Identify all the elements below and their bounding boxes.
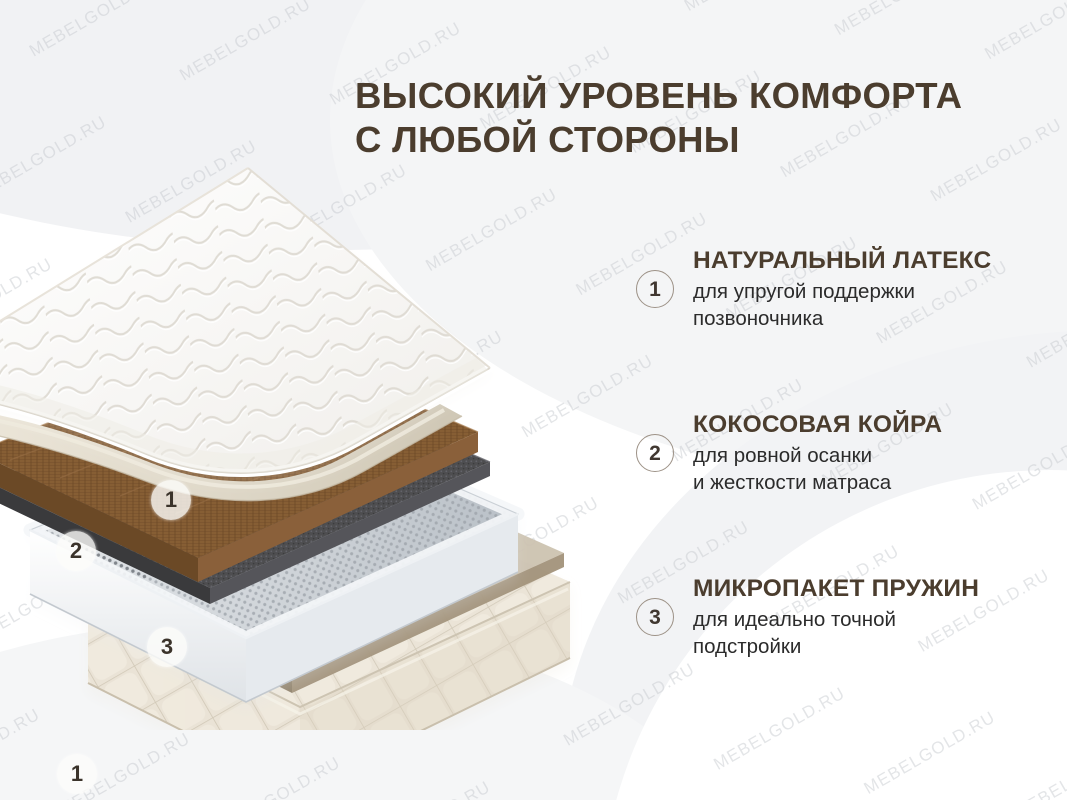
watermark-text: MEBELGOLD.RU: [512, 0, 764, 25]
mattress-layers-illustration: 1 2 3 1: [0, 130, 590, 730]
legend-badge-2: 2: [636, 434, 674, 472]
infographic-canvas: 1 2 3 1 ВЫСОКИЙ УРОВЕНЬ КОМФОРТА С ЛЮБОЙ…: [0, 0, 1067, 800]
diagram-callout-1-latex: 1: [151, 480, 191, 520]
legend-desc-1: для упругой поддержки позвоночника: [693, 279, 1056, 332]
diagram-callout-1-base: 1: [57, 754, 97, 794]
watermark-text: MEBELGOLD.RU: [1058, 62, 1067, 263]
legend-text-1: НАТУРАЛЬНЫЙ ЛАТЕКС для упругой поддержки…: [693, 246, 1056, 332]
legend-title-1: НАТУРАЛЬНЫЙ ЛАТЕКС: [693, 246, 1056, 276]
legend-desc-3-line-1: для идеально точной: [693, 607, 1056, 634]
legend-badge-3: 3: [636, 598, 674, 636]
legend-item-coir: 2 КОКОСОВАЯ КОЙРА для ровной осанки и же…: [636, 410, 1056, 506]
legend-desc-1-line-1: для упругой поддержки: [693, 279, 1056, 306]
legend-text-3: МИКРОПАКЕТ ПРУЖИН для идеально точной по…: [693, 574, 1056, 660]
legend-desc-3: для идеально точной подстройки: [693, 607, 1056, 660]
legend-desc-1-line-2: позвоночника: [693, 306, 1056, 333]
legend-badge-1: 1: [636, 270, 674, 308]
diagram-callout-2-coir: 2: [56, 531, 96, 571]
page-title-line-2: С ЛЮБОЙ СТОРОНЫ: [355, 118, 1045, 162]
page-title: ВЫСОКИЙ УРОВЕНЬ КОМФОРТА С ЛЮБОЙ СТОРОНЫ: [355, 74, 1045, 162]
watermark-text: MEBELGOLD.RU: [812, 0, 1064, 73]
legend-desc-2-line-1: для ровной осанки: [693, 443, 1056, 470]
legend-title-2: КОКОСОВАЯ КОЙРА: [693, 410, 1056, 440]
legend-title-3: МИКРОПАКЕТ ПРУЖИН: [693, 574, 1056, 604]
legend-list: 1 НАТУРАЛЬНЫЙ ЛАТЕКС для упругой поддерж…: [636, 246, 1056, 738]
page-title-line-1: ВЫСОКИЙ УРОВЕНЬ КОМФОРТА: [355, 74, 1045, 118]
watermark-text: MEBELGOLD.RU: [662, 0, 914, 49]
diagram-callout-3-spring: 3: [147, 627, 187, 667]
watermark-text: MEBELGOLD.RU: [0, 794, 235, 800]
legend-desc-2-line-2: и жесткости матраса: [693, 470, 1056, 497]
legend-desc-2: для ровной осанки и жесткости матраса: [693, 443, 1056, 496]
watermark-text: MEBELGOLD.RU: [7, 0, 259, 94]
legend-item-springs: 3 МИКРОПАКЕТ ПРУЖИН для идеально точной …: [636, 574, 1056, 670]
legend-item-latex: 1 НАТУРАЛЬНЫЙ ЛАТЕКС для упругой поддерж…: [636, 246, 1056, 342]
legend-desc-3-line-2: подстройки: [693, 634, 1056, 661]
legend-text-2: КОКОСОВАЯ КОЙРА для ровной осанки и жест…: [693, 410, 1056, 496]
